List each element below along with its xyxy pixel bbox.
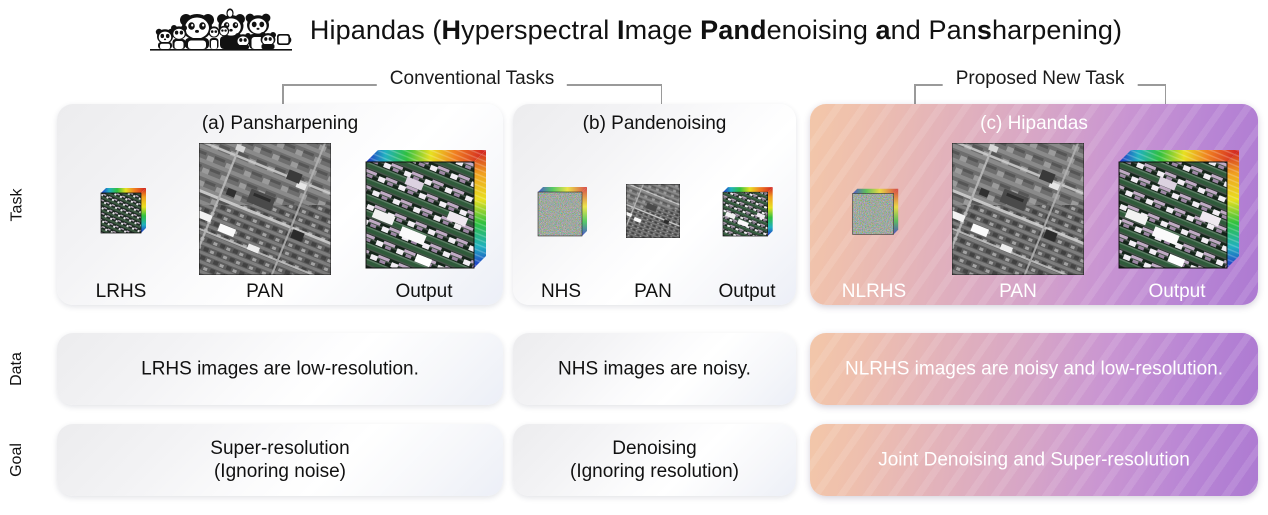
task-image-row: NLRHS (810, 140, 1258, 305)
task-slot-output: Output (699, 140, 795, 305)
title-part-2: yperspectral (461, 15, 617, 45)
task-slot-caption: PAN (999, 281, 1037, 303)
title-part-3: mage (625, 15, 701, 45)
card-title: (c) Hipandas (810, 113, 1258, 135)
title-part-6: harpening) (992, 15, 1122, 45)
task-card-pansharpening[interactable]: (a) Pansharpening (57, 104, 503, 305)
pan-grayscale-thumbnail (952, 143, 1084, 275)
page-title: Hipandas (Hyperspectral Image Pandenoisi… (310, 15, 1122, 46)
row-label-data: Data (0, 333, 34, 405)
figure-root: Hipandas (Hyperspectral Image Pandenoisi… (0, 0, 1268, 515)
pan-grayscale-thumbnail (199, 143, 331, 275)
hyperspectral-cube-output-thumbnail (718, 183, 776, 241)
goal-line-1: Joint Denoising and Super-resolution (824, 448, 1244, 471)
data-card-pandenoising[interactable]: NHS images are noisy. (513, 333, 796, 405)
task-slot-pan: PAN (938, 140, 1098, 305)
task-slot-nhs: NHS (515, 140, 607, 305)
bracket-tick-left (282, 84, 284, 106)
title-part-1: Hipandas ( (310, 15, 442, 45)
hyperspectral-cube-output-thumbnail (354, 140, 494, 280)
title-bold-i: I (617, 15, 625, 45)
hyperspectral-cube-output-thumbnail (1107, 140, 1247, 280)
goal-card-text: Joint Denoising and Super-resolution (824, 448, 1244, 471)
panda-group-logo-icon (146, 7, 296, 53)
bracket-tick-right (1165, 84, 1167, 106)
task-slot-pan: PAN (607, 140, 699, 305)
data-card-text: LRHS images are low-resolution. (71, 357, 489, 380)
row-label-task: Task (0, 105, 34, 305)
goal-card-pansharpening[interactable]: Super-resolution (Ignoring noise) (57, 424, 503, 496)
row-label-text: Task (8, 189, 26, 222)
goal-card-hipandas[interactable]: Joint Denoising and Super-resolution (810, 424, 1258, 496)
title-part-4: enoising (767, 15, 876, 45)
row-label-text: Data (8, 352, 26, 386)
goal-line-2: (Ignoring resolution) (527, 460, 782, 483)
task-slot-caption: Output (1148, 281, 1205, 303)
goal-card-pandenoising[interactable]: Denoising (Ignoring resolution) (513, 424, 796, 496)
title-bold-s: s (977, 15, 992, 45)
task-slot-output: Output (345, 140, 503, 305)
row-label-goal: Goal (0, 424, 34, 496)
title-part-5: nd Pan (891, 15, 977, 45)
bracket-tick-right (661, 84, 663, 106)
data-card-pansharpening[interactable]: LRHS images are low-resolution. (57, 333, 503, 405)
goal-card-text: Super-resolution (Ignoring noise) (71, 437, 489, 483)
task-slot-caption: Output (395, 281, 452, 303)
data-card-hipandas[interactable]: NLRHS images are noisy and low-resolutio… (810, 333, 1258, 405)
card-title: (b) Pandenoising (513, 113, 796, 135)
task-card-hipandas[interactable]: (c) Hipandas (810, 104, 1258, 305)
row-label-text: Goal (8, 443, 26, 477)
task-slot-caption: PAN (246, 281, 284, 303)
task-slot-lrhs: LRHS (57, 140, 185, 305)
task-image-row: LRHS (57, 140, 503, 305)
figure-header: Hipandas (Hyperspectral Image Pandenoisi… (0, 4, 1268, 56)
task-card-pandenoising[interactable]: (b) Pandenoising (513, 104, 796, 305)
bracket-conventional-tasks: Conventional Tasks (282, 60, 662, 106)
pan-grayscale-thumbnail (626, 184, 680, 238)
noisy-hyperspectral-cube-thumbnail (532, 184, 590, 242)
card-title: (a) Pansharpening (57, 113, 503, 135)
task-slot-caption: PAN (634, 281, 672, 303)
task-image-row: NHS (513, 140, 796, 305)
goal-line-1: Denoising (527, 437, 782, 460)
data-card-text: NHS images are noisy. (527, 357, 782, 380)
title-bold-h: H (442, 15, 462, 45)
hyperspectral-cube-lrhs-thumbnail (94, 186, 148, 240)
title-bold-pand: Pand (700, 15, 766, 45)
noisy-lowres-hyperspectral-cube-thumbnail (847, 186, 901, 240)
task-slot-caption: NHS (541, 281, 581, 303)
bracket-label: Conventional Tasks (377, 68, 567, 90)
task-slot-caption: Output (718, 281, 775, 303)
goal-card-text: Denoising (Ignoring resolution) (527, 437, 782, 483)
title-bold-a: a (876, 15, 891, 45)
task-slot-caption: NLRHS (842, 281, 906, 303)
data-card-text: NLRHS images are noisy and low-resolutio… (824, 357, 1244, 380)
bracket-tick-left (914, 84, 916, 106)
bracket-label: Proposed New Task (943, 68, 1138, 90)
bracket-proposed-new-task: Proposed New Task (914, 60, 1166, 106)
goal-line-2: (Ignoring noise) (71, 460, 489, 483)
task-slot-output: Output (1098, 140, 1256, 305)
task-slot-pan: PAN (185, 140, 345, 305)
task-slot-nlrhs: NLRHS (810, 140, 938, 305)
goal-line-1: Super-resolution (71, 437, 489, 460)
task-slot-caption: LRHS (96, 281, 147, 303)
